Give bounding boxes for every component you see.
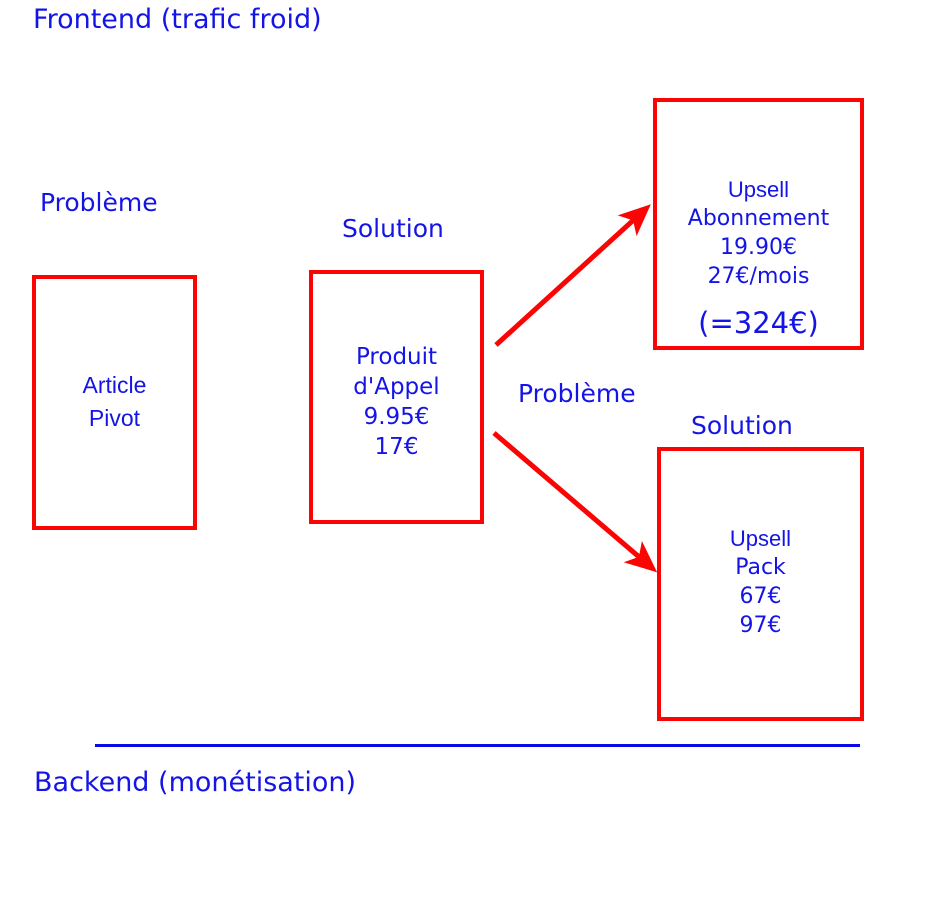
box-upsell-abonnement-total: (=324€) — [657, 306, 860, 341]
box-upsell-pack-line4: 97€ — [661, 613, 860, 639]
box-produit-appel-line1: Produit — [313, 344, 480, 372]
label-solution-right: Solution — [691, 413, 793, 438]
label-solution-left: Solution — [342, 216, 444, 241]
box-upsell-abonnement-line4: 27€/mois — [657, 264, 860, 290]
backend-section-title: Backend (monétisation) — [34, 769, 356, 796]
box-upsell-abonnement-line1: Upsell — [657, 177, 860, 203]
box-upsell-pack-line2: Pack — [661, 555, 860, 581]
box-article-pivot-line1: Article — [36, 372, 193, 400]
box-upsell-abonnement-line2: Abonnement — [657, 206, 860, 232]
box-upsell-abonnement-line3: 19.90€ — [657, 235, 860, 261]
box-article-pivot-line2: Pivot — [36, 405, 193, 433]
box-upsell-pack-line1: Upsell — [661, 526, 860, 552]
label-probleme-middle: Problème — [518, 381, 636, 406]
arrow-to-upsell-abonnement — [496, 215, 639, 345]
box-produit-appel-line4: 17€ — [313, 434, 480, 462]
box-upsell-pack-line3: 67€ — [661, 584, 860, 610]
box-produit-appel-line3: 9.95€ — [313, 404, 480, 432]
box-produit-appel[interactable]: Produit d'Appel 9.95€ 17€ — [309, 270, 484, 524]
box-article-pivot[interactable]: Article Pivot — [32, 275, 197, 530]
label-probleme-left: Problème — [40, 190, 158, 215]
box-produit-appel-line2: d'Appel — [313, 374, 480, 402]
frontend-section-title: Frontend (trafic froid) — [33, 6, 322, 33]
arrow-to-upsell-pack — [494, 433, 645, 562]
frontend-backend-divider — [95, 744, 860, 747]
box-upsell-abonnement[interactable]: Upsell Abonnement 19.90€ 27€/mois (=324€… — [653, 98, 864, 350]
box-upsell-pack[interactable]: Upsell Pack 67€ 97€ — [657, 447, 864, 721]
diagram-canvas: Frontend (trafic froid) Problème Solutio… — [0, 0, 944, 917]
